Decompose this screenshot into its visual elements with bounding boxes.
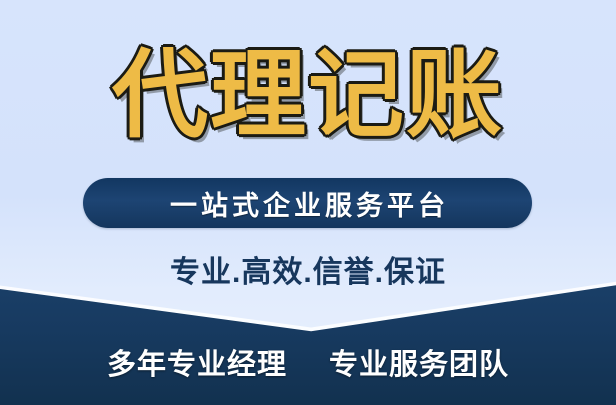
promotional-poster: 代理记账 一站式企业服务平台 专业.高效.信誉.保证 多年专业经理 专业服务团队 <box>0 0 616 405</box>
tagline-text: 专业.高效.信誉.保证 <box>0 247 616 291</box>
service-banner-label: 一站式企业服务平台 <box>166 184 449 223</box>
footer-highlight-item: 专业服务团队 <box>329 341 509 383</box>
footer-highlight-item: 多年专业经理 <box>107 341 287 383</box>
page-title: 代理记账 <box>0 44 616 148</box>
footer-highlights: 多年专业经理 专业服务团队 <box>0 341 616 383</box>
service-banner: 一站式企业服务平台 <box>83 178 532 228</box>
